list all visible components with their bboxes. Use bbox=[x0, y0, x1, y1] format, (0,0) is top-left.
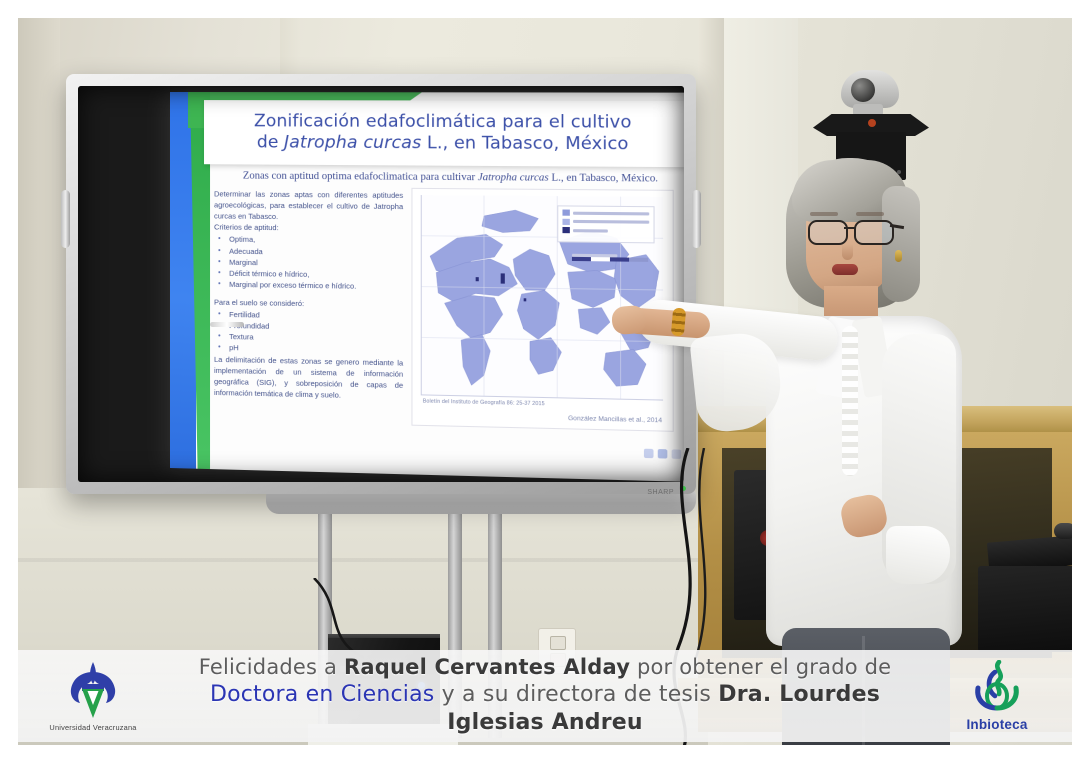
slide-soil-list: Fertilidad Profundidad Textura pH bbox=[214, 309, 403, 357]
legend-swatch-icon bbox=[562, 227, 569, 233]
amber-bracelet bbox=[671, 307, 686, 336]
camera-lens-icon bbox=[851, 78, 875, 102]
legend-entry bbox=[562, 227, 649, 234]
caption-overlay: Universidad Veracruzana Felicidades a Ra… bbox=[18, 650, 1072, 742]
sharp-interactive-display[interactable]: Zonificación edafoclimática para el cult… bbox=[66, 74, 696, 494]
eyebrow-right bbox=[856, 212, 884, 216]
glasses-lens-right bbox=[854, 220, 894, 245]
map-citation: Boletín del Instituto de Geografía 86: 2… bbox=[423, 398, 545, 407]
glasses-bridge bbox=[844, 227, 856, 229]
inbioteca-logo bbox=[965, 660, 1029, 716]
slide-title: Zonificación edafoclimática para el cult… bbox=[254, 111, 632, 155]
earring bbox=[895, 250, 902, 262]
caption-line1-part1: Felicidades a bbox=[199, 655, 344, 679]
display-handle-left[interactable] bbox=[61, 190, 70, 248]
universidad-veracruzana-logo bbox=[56, 660, 130, 722]
legend-label bbox=[573, 220, 649, 224]
computer-mouse[interactable] bbox=[1054, 523, 1072, 539]
graduate-name: Raquel Cervantes Alday bbox=[344, 655, 630, 679]
display-screen[interactable]: Zonificación edafoclimática para el cult… bbox=[78, 86, 684, 482]
wall-seam-line bbox=[18, 558, 708, 562]
degree-title: Doctora en Ciencias bbox=[210, 682, 434, 707]
caption-text-block: Felicidades a Raquel Cervantes Alday por… bbox=[168, 654, 922, 738]
slide-paragraph-2: La delimitación de estas zonas se genero… bbox=[214, 353, 403, 402]
caption-line1-part2: por obtener el grado de bbox=[630, 655, 891, 679]
left-hand-holding-pointer bbox=[611, 305, 647, 335]
legend-swatch-icon bbox=[562, 218, 569, 224]
fleur-de-lis-icon bbox=[56, 660, 130, 722]
screen-speaker-slit bbox=[210, 322, 244, 327]
slide-criteria-list: Optima, Adecuada Marginal Déficit térmic… bbox=[214, 234, 403, 292]
legend-entry bbox=[562, 210, 649, 217]
mouth bbox=[832, 264, 858, 275]
caption-line-2: Doctora en Ciencias y a su directora de … bbox=[168, 681, 922, 736]
left-logo-block: Universidad Veracruzana bbox=[18, 660, 168, 732]
eyeglasses-icon bbox=[806, 220, 896, 242]
slide-subtitle-species: Jatropha curcas bbox=[478, 172, 549, 184]
legend-label bbox=[573, 229, 608, 232]
slide-subtitle: Zonas con aptitud optima edafoclimatica … bbox=[218, 170, 684, 184]
poster-page: Zonificación edafoclimática para el cult… bbox=[0, 0, 1090, 760]
slide-criteria-heading: Criterios de aptitud: bbox=[214, 222, 403, 235]
inbioteca-caption: Inbioteca bbox=[966, 717, 1027, 732]
map-plot-area bbox=[421, 195, 663, 401]
slide-title-line2-post: L., en Tabasco, México bbox=[421, 133, 628, 154]
blouse-ruffle-placket bbox=[842, 326, 858, 476]
right-sleeve-cuff bbox=[886, 526, 950, 584]
event-photograph: Zonificación edafoclimática para el cult… bbox=[18, 18, 1072, 745]
right-logo-block: Inbioteca bbox=[922, 660, 1072, 732]
inbioteca-flame-icon bbox=[965, 660, 1029, 716]
caption-line2-mid: y a su directora de tesis bbox=[434, 682, 718, 707]
desk-equipment-box bbox=[978, 566, 1072, 652]
nose bbox=[842, 244, 853, 260]
slide-paragraph-1: Determinar las zonas aptas con diferente… bbox=[214, 188, 403, 223]
legend-swatch-icon bbox=[562, 210, 569, 216]
slide-subtitle-pre: Zonas con aptitud optima edafoclimatica … bbox=[243, 170, 478, 183]
slide-body-text: Determinar las zonas aptas con diferente… bbox=[214, 188, 403, 402]
legend-label bbox=[573, 211, 649, 215]
eyebrow-left bbox=[810, 212, 838, 216]
slide-title-line2-pre: de bbox=[257, 132, 284, 152]
presentation-slide: Zonificación edafoclimática para el cult… bbox=[170, 92, 684, 482]
slide-title-species: Jatropha curcas bbox=[284, 132, 421, 153]
wall-column-left bbox=[18, 18, 60, 541]
glasses-lens-left bbox=[808, 220, 848, 245]
slide-title-line1: Zonificación edafoclimática para el cult… bbox=[254, 111, 632, 133]
polycom-brand-dot-icon bbox=[868, 119, 876, 127]
legend-entry bbox=[562, 218, 649, 225]
map-scale-bar bbox=[572, 252, 648, 262]
universidad-veracruzana-caption: Universidad Veracruzana bbox=[49, 723, 136, 732]
slide-title-card: Zonificación edafoclimática para el cult… bbox=[204, 100, 684, 167]
caption-line-1: Felicidades a Raquel Cervantes Alday por… bbox=[168, 654, 922, 680]
slide-subtitle-post: L., en Tabasco, México. bbox=[549, 172, 658, 184]
map-legend bbox=[557, 205, 654, 243]
